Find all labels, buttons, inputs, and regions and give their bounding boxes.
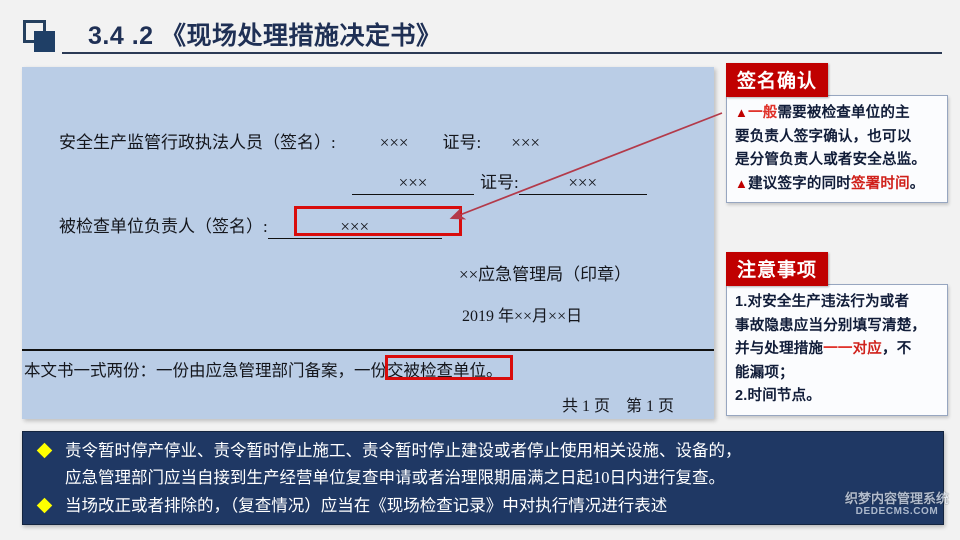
- highlight-box-footer-note: [385, 355, 513, 380]
- panel-title-signature: 签名确认: [726, 63, 828, 97]
- panel-text-segment: 对应: [853, 341, 882, 357]
- panel-text-segment: 建议签字的同时: [748, 176, 851, 192]
- watermark-line-2: DEDECMS.COM: [845, 506, 949, 517]
- doc-stamp-line: ××应急管理局（印章）: [459, 260, 631, 285]
- second-cert-value: ×××: [519, 173, 647, 195]
- panel-line: 1.对安全生产违法行为或者: [735, 292, 939, 313]
- officer-value: ×××: [380, 133, 409, 152]
- doc-footer-divider: [22, 349, 714, 351]
- document-preview: 安全生产监管行政执法人员（签名）:×××证号:××× ×××证号:××× 被检查…: [22, 67, 714, 419]
- diamond-bullet-icon: [37, 498, 53, 514]
- doc-line-enforcement-officer: 安全生产监管行政执法人员（签名）:×××证号:×××: [59, 128, 540, 153]
- callout-panel-signature: 签名确认 ▲一般需要被检查单位的主 要负责人签字确认，也可以 是分管负责人或者安…: [726, 63, 948, 203]
- panel-line: ▲一般需要被检查单位的主: [735, 103, 939, 124]
- inspected-head-label: 被检查单位负责人（签名）:: [59, 217, 268, 236]
- watermark: 织梦内容管理系统 DEDECMS.COM: [845, 492, 949, 517]
- panel-text-segment: 要负责人签字确认，也可以: [735, 129, 911, 145]
- officer-cert-value: ×××: [511, 133, 540, 152]
- panel-text-segment: 需要被检查单位的主: [777, 105, 909, 121]
- panel-body-signature: ▲一般需要被检查单位的主 要负责人签字确认，也可以 是分管负责人或者安全总监。 …: [726, 95, 948, 203]
- banner-line-1: 责令暂时停产停业、责令暂时停止施工、责令暂时停止建设或者停止使用相关设施、设备的…: [65, 441, 742, 460]
- square-filled-shape: [34, 31, 55, 52]
- triangle-bullet-icon: ▲: [735, 105, 748, 120]
- panel-text-segment: ，不: [882, 341, 911, 357]
- panel-line: ▲建议签字的同时签署时间。: [735, 174, 939, 195]
- officer-label: 安全生产监管行政执法人员（签名）:: [59, 133, 336, 152]
- callout-panel-notes: 注意事项 1.对安全生产违法行为或者 事故隐患应当分别填写清楚， 并与处理措施一…: [726, 252, 948, 416]
- overlapping-squares-icon: [23, 20, 57, 52]
- page-header: 3.4 .2 《现场处理措施决定书》: [0, 0, 960, 58]
- watermark-line-1: 织梦内容管理系统: [845, 492, 949, 506]
- header-divider: [62, 52, 942, 54]
- banner-bullet-text: 当场改正或者排除的，（复查情况）应当在《现场检查记录》中对执行情况进行表述: [65, 493, 937, 520]
- doc-date-line: 2019 年××月××日: [462, 302, 582, 326]
- banner-line-1: 当场改正或者排除的，（复查情况）应当在《现场检查记录》中对执行情况进行表述: [65, 496, 667, 515]
- panel-title-notes: 注意事项: [726, 252, 828, 286]
- panel-text-segment: 并与处理措施: [735, 341, 823, 357]
- highlight-box-signature: [294, 206, 462, 236]
- panel-text-segment: 能漏项；: [735, 365, 794, 381]
- doc-line-second-officer: ×××证号:×××: [352, 168, 647, 195]
- doc-page-count: 共 1 页 第 1 页: [562, 392, 674, 416]
- second-officer-value: ×××: [352, 173, 474, 195]
- panel-line: 要负责人签字确认，也可以: [735, 127, 939, 148]
- banner-line-2: 应急管理部门应当自接到生产经营单位复查申请或者治理限期届满之日起10日内进行复查…: [65, 465, 937, 492]
- triangle-bullet-icon: ▲: [735, 176, 748, 191]
- panel-text-segment: 是分管负责人或者安全总监。: [735, 152, 926, 168]
- panel-text-segment: 事故隐患应当分别填写清楚，: [735, 318, 926, 334]
- panel-text-segment: 2.时间节点。: [735, 388, 821, 404]
- second-cert-label: 证号:: [480, 173, 519, 192]
- panel-text-segment: 一般: [748, 105, 777, 121]
- panel-line: 能漏项；: [735, 363, 939, 384]
- page-title: 3.4 .2 《现场处理措施决定书》: [88, 16, 442, 52]
- panel-text-segment: 一一: [823, 341, 852, 357]
- officer-cert-label: 证号:: [443, 133, 482, 152]
- summary-banner: 责令暂时停产停业、责令暂时停止施工、责令暂时停止建设或者停止使用相关设施、设备的…: [22, 431, 944, 525]
- panel-line: 2.时间节点。: [735, 386, 939, 407]
- panel-body-notes: 1.对安全生产违法行为或者 事故隐患应当分别填写清楚， 并与处理措施一一对应，不…: [726, 284, 948, 416]
- panel-text-segment: 1.对安全生产违法行为或者: [735, 294, 909, 310]
- panel-text-segment: 签署时间: [851, 176, 910, 192]
- diamond-bullet-icon: [37, 443, 53, 459]
- panel-line: 并与处理措施一一对应，不: [735, 339, 939, 360]
- panel-line: 事故隐患应当分别填写清楚，: [735, 316, 939, 337]
- panel-line: 是分管负责人或者安全总监。: [735, 150, 939, 171]
- panel-text-segment: 。: [910, 176, 925, 192]
- banner-bullet-text: 责令暂时停产停业、责令暂时停止施工、责令暂时停止建设或者停止使用相关设施、设备的…: [65, 438, 937, 491]
